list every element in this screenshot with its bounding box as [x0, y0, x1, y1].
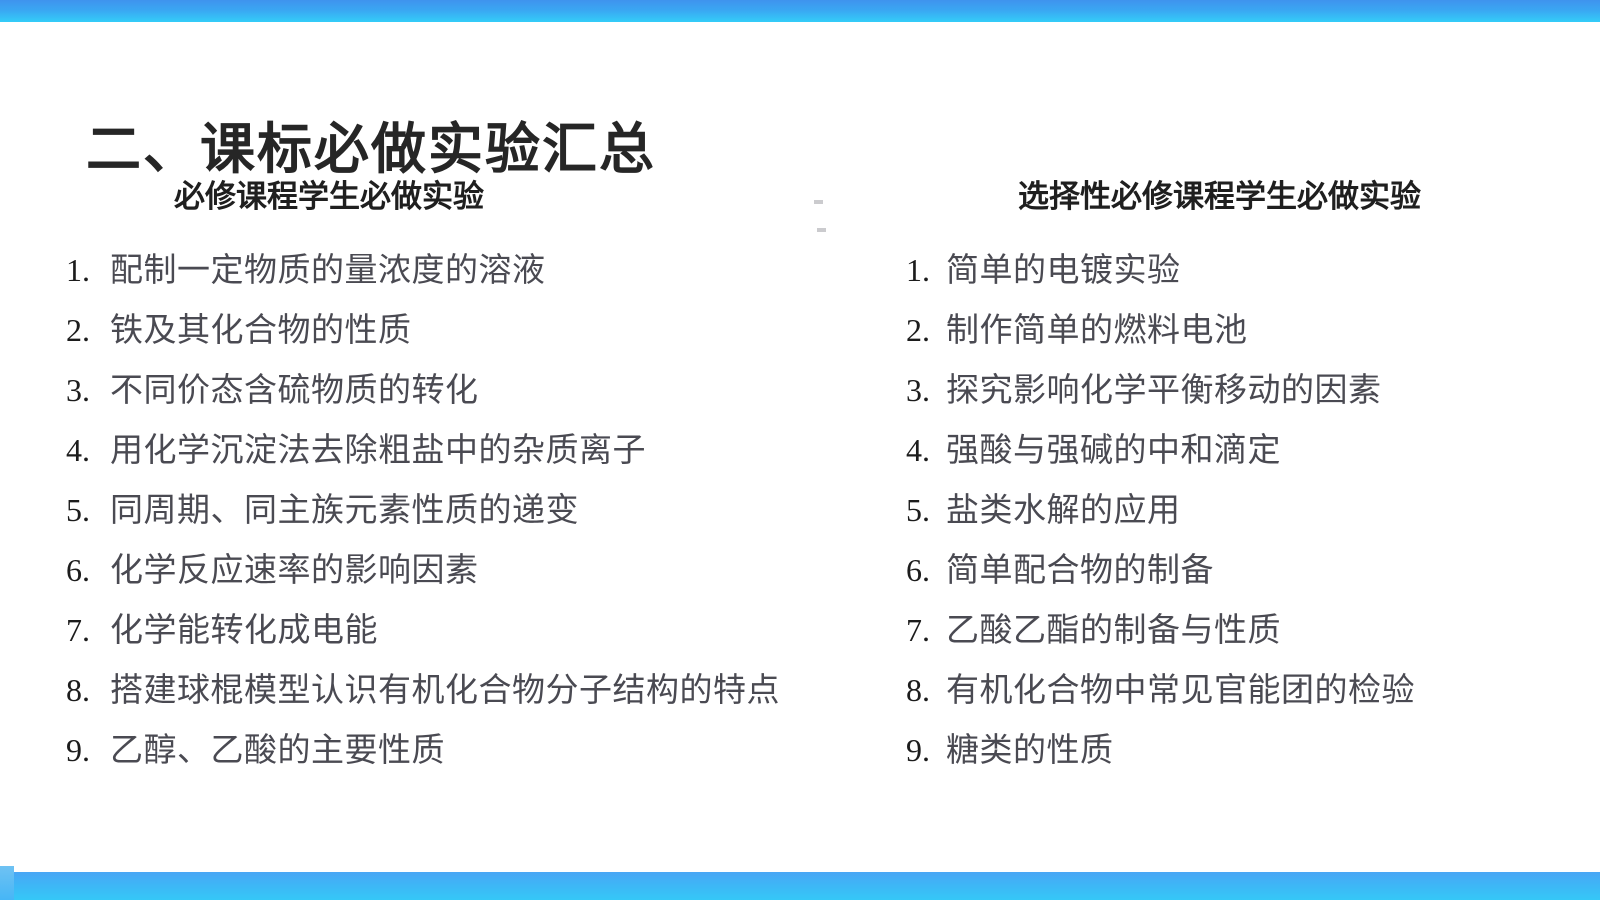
list-item-label: 简单的电镀实验 [946, 241, 1181, 301]
page-title: 二、课标必做实验汇总 [86, 117, 656, 181]
list-item: 5. 盐类水解的应用 [906, 480, 1600, 540]
list-item-number: 7. [906, 600, 946, 660]
list-item: 2. 铁及其化合物的性质 [66, 300, 840, 360]
experiment-list-elective: 1. 简单的电镀实验 2. 制作简单的燃料电池 3. 探究影响化学平衡移动的因素… [906, 240, 1600, 780]
list-item-label: 糖类的性质 [946, 721, 1114, 781]
experiment-list-compulsory: 1. 配制一定物质的量浓度的溶液 2. 铁及其化合物的性质 3. 不同价态含硫物… [66, 240, 840, 780]
list-item-number: 2. [66, 300, 110, 360]
list-item: 2. 制作简单的燃料电池 [906, 300, 1600, 360]
list-item-label: 探究影响化学平衡移动的因素 [946, 361, 1382, 421]
column-header-elective: 选择性必修课程学生必做实验 [906, 176, 1600, 218]
list-item-number: 4. [906, 420, 946, 480]
list-item: 4. 强酸与强碱的中和滴定 [906, 420, 1600, 480]
column-elective: 选择性必修课程学生必做实验 1. 简单的电镀实验 2. 制作简单的燃料电池 3.… [840, 176, 1600, 780]
list-item-number: 2. [906, 300, 946, 360]
list-item-number: 8. [906, 660, 946, 720]
list-item: 3. 探究影响化学平衡移动的因素 [906, 360, 1600, 420]
list-item: 6. 简单配合物的制备 [906, 540, 1600, 600]
scan-artifact-mark [814, 200, 823, 204]
slide-canvas: 二、课标必做实验汇总 必修课程学生必做实验 1. 配制一定物质的量浓度的溶液 2… [0, 0, 1600, 900]
list-item: 1. 配制一定物质的量浓度的溶液 [66, 240, 840, 300]
list-item-number: 1. [66, 240, 110, 300]
list-item-label: 铁及其化合物的性质 [110, 301, 412, 361]
list-item: 9. 乙醇、乙酸的主要性质 [66, 720, 840, 780]
top-decorative-bar [0, 0, 1600, 22]
list-item-label: 制作简单的燃料电池 [946, 301, 1248, 361]
list-item: 8. 搭建球棍模型认识有机化合物分子结构的特点 [66, 660, 840, 720]
experiment-columns: 必修课程学生必做实验 1. 配制一定物质的量浓度的溶液 2. 铁及其化合物的性质… [0, 176, 1600, 780]
list-item-label: 搭建球棍模型认识有机化合物分子结构的特点 [110, 661, 780, 721]
list-item-label: 乙醇、乙酸的主要性质 [110, 721, 445, 781]
list-item-label: 有机化合物中常见官能团的检验 [946, 661, 1415, 721]
bottom-decorative-bar [0, 872, 1600, 900]
list-item-label: 同周期、同主族元素性质的递变 [110, 481, 579, 541]
list-item-number: 3. [906, 360, 946, 420]
column-compulsory: 必修课程学生必做实验 1. 配制一定物质的量浓度的溶液 2. 铁及其化合物的性质… [0, 176, 840, 780]
list-item-number: 4. [66, 420, 110, 480]
list-item: 7. 乙酸乙酯的制备与性质 [906, 600, 1600, 660]
list-item-label: 简单配合物的制备 [946, 541, 1214, 601]
list-item-number: 6. [906, 540, 946, 600]
list-item-label: 用化学沉淀法去除粗盐中的杂质离子 [110, 421, 646, 481]
list-item-number: 5. [906, 480, 946, 540]
list-item-number: 9. [906, 720, 946, 780]
list-item-label: 强酸与强碱的中和滴定 [946, 421, 1281, 481]
list-item: 7. 化学能转化成电能 [66, 600, 840, 660]
scan-artifact-mark [817, 228, 826, 232]
list-item-label: 乙酸乙酯的制备与性质 [946, 601, 1281, 661]
list-item-number: 6. [66, 540, 110, 600]
list-item-label: 盐类水解的应用 [946, 481, 1181, 541]
list-item-number: 1. [906, 240, 946, 300]
list-item-number: 8. [66, 660, 110, 720]
list-item: 6. 化学反应速率的影响因素 [66, 540, 840, 600]
list-item: 3. 不同价态含硫物质的转化 [66, 360, 840, 420]
list-item: 5. 同周期、同主族元素性质的递变 [66, 480, 840, 540]
list-item-number: 7. [66, 600, 110, 660]
list-item: 1. 简单的电镀实验 [906, 240, 1600, 300]
list-item: 8. 有机化合物中常见官能团的检验 [906, 660, 1600, 720]
list-item-label: 化学反应速率的影响因素 [110, 541, 479, 601]
column-header-compulsory: 必修课程学生必做实验 [66, 176, 840, 218]
bottom-left-accent [0, 866, 14, 900]
list-item: 9. 糖类的性质 [906, 720, 1600, 780]
list-item: 4. 用化学沉淀法去除粗盐中的杂质离子 [66, 420, 840, 480]
list-item-label: 配制一定物质的量浓度的溶液 [110, 241, 546, 301]
list-item-label: 不同价态含硫物质的转化 [110, 361, 479, 421]
list-item-number: 3. [66, 360, 110, 420]
list-item-number: 5. [66, 480, 110, 540]
list-item-number: 9. [66, 720, 110, 780]
list-item-label: 化学能转化成电能 [110, 601, 378, 661]
